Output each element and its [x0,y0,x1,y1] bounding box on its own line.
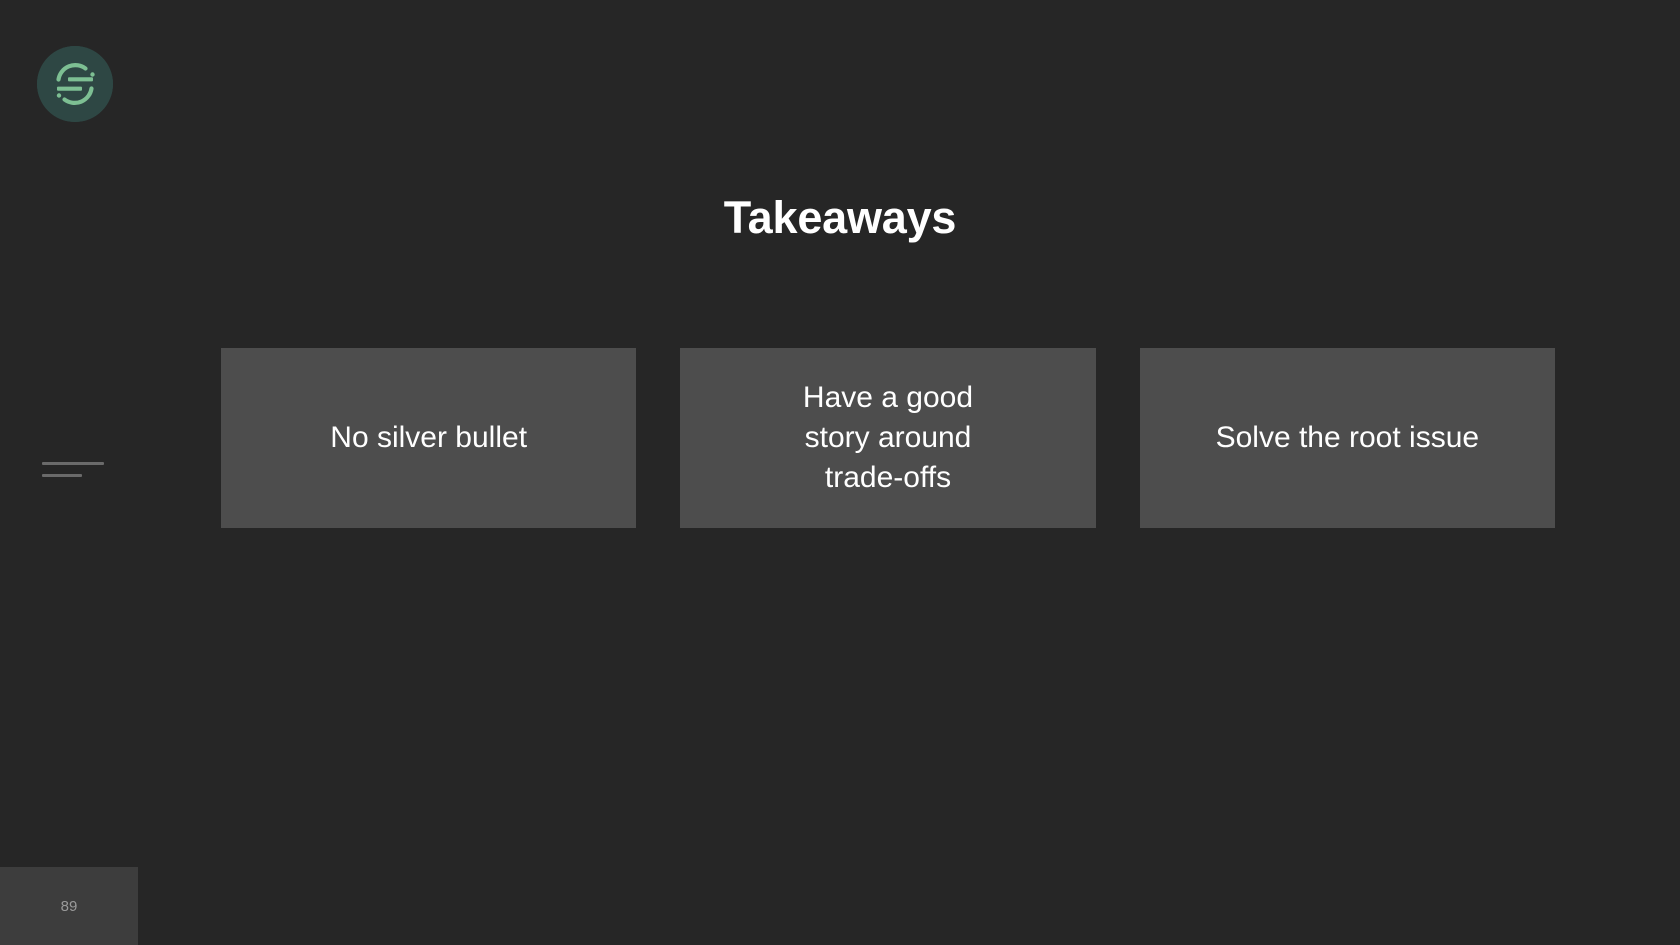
takeaway-card-label: No silver bullet [330,418,527,458]
takeaway-card-label: Solve the root issue [1216,418,1479,458]
takeaway-card-no-silver-bullet[interactable]: No silver bullet [221,348,636,528]
accent-line-top [42,462,104,465]
accent-line-bottom [42,474,82,477]
slide-accent-lines [42,462,104,484]
brand-logo-icon [37,46,113,122]
brand-logo-badge [37,46,113,122]
page-title: Takeaways [0,193,1680,243]
presentation-slide: Takeaways No silver bullet Have a good s… [0,0,1680,945]
takeaway-card-solve-root-issue[interactable]: Solve the root issue [1140,348,1555,528]
takeaway-card-label: Have a good story around trade-offs [803,378,973,498]
takeaway-card-row: No silver bullet Have a good story aroun… [221,348,1555,528]
page-number: 89 [61,898,78,915]
page-number-chip: 89 [0,867,138,945]
takeaway-card-trade-offs-story[interactable]: Have a good story around trade-offs [680,348,1095,528]
